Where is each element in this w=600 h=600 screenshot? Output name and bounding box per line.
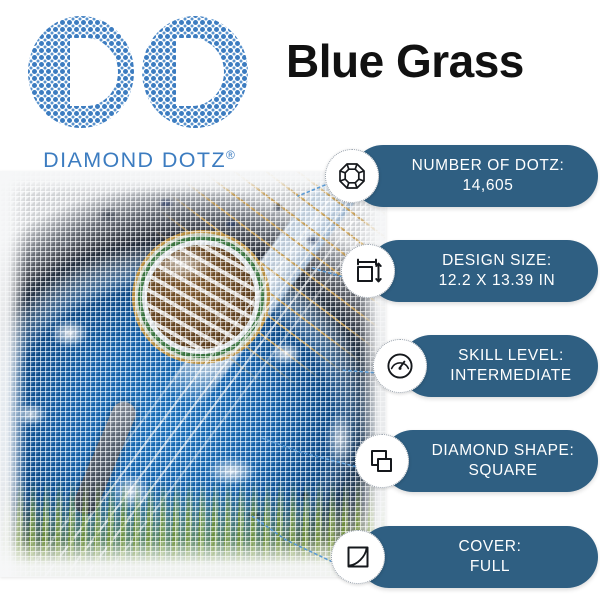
overlapping-squares-icon [355,434,409,488]
spec-badge-cover[interactable]: COVER: FULL [358,526,598,588]
double-d-dotted-logo-icon [24,12,252,132]
spec-label: DESIGN SIZE: [442,252,552,269]
product-info-card: DIAMOND DOTZ® Blue Grass [0,0,600,600]
measure-square-icon [341,244,395,298]
spec-badge-number-of-dotz[interactable]: NUMBER OF DOTZ: 14,605 [352,145,598,207]
registered-trademark-symbol: ® [226,148,235,162]
spec-label: SKILL LEVEL: [458,347,564,364]
artwork-preview [0,171,386,577]
grass-layer [0,171,386,577]
spec-badge-text: COVER: FULL [358,537,598,578]
brand-logo-block: DIAMOND DOTZ® [8,8,270,168]
spec-badge-text: DIAMOND SHAPE: SQUARE [382,441,598,482]
spec-badge-text: NUMBER OF DOTZ: 14,605 [352,156,598,197]
spec-value: 14,605 [394,176,582,196]
brand-wordmark-text: DIAMOND DOTZ [43,148,226,172]
spec-label: NUMBER OF DOTZ: [412,157,565,174]
spec-badge-skill-level[interactable]: SKILL LEVEL: INTERMEDIATE [400,335,598,397]
gauge-icon [373,339,427,393]
spec-value: SQUARE [424,461,582,481]
spec-badge-text: DESIGN SIZE: 12.2 X 13.39 IN [368,251,598,292]
artwork-mosaic-canvas [0,171,386,577]
brand-wordmark: DIAMOND DOTZ® [8,148,270,173]
spec-value: INTERMEDIATE [440,366,582,386]
spec-value: FULL [398,557,582,577]
spec-label: DIAMOND SHAPE: [432,442,575,459]
spec-badge-design-size[interactable]: DESIGN SIZE: 12.2 X 13.39 IN [368,240,598,302]
coverage-square-icon [331,530,385,584]
spec-label: COVER: [458,538,521,555]
spec-value: 12.2 X 13.39 IN [412,271,582,291]
gem-icon [325,149,379,203]
page-title: Blue Grass [286,38,596,84]
spec-badge-text: SKILL LEVEL: INTERMEDIATE [400,346,598,387]
spec-badge-diamond-shape[interactable]: DIAMOND SHAPE: SQUARE [382,430,598,492]
